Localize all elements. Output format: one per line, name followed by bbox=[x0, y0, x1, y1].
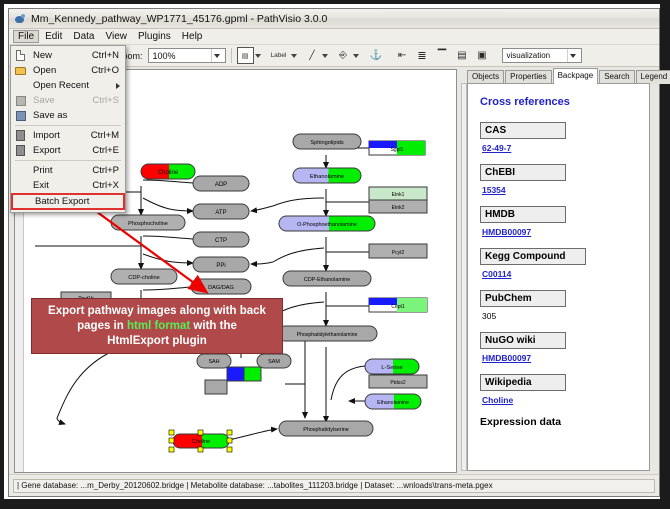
zoom-value: 100% bbox=[151, 51, 211, 61]
pathvisio-icon bbox=[14, 13, 26, 25]
file-menu-exit-label: Exit bbox=[28, 180, 92, 191]
file-menu-exit[interactable]: Exit Ctrl+X bbox=[11, 178, 125, 193]
xref-value-chebi[interactable]: 15354 bbox=[482, 185, 639, 195]
svg-text:Choline: Choline bbox=[158, 170, 179, 176]
file-menu-open-recent[interactable]: Open Recent bbox=[11, 78, 125, 93]
anchor-icon[interactable]: ⚓ bbox=[368, 47, 385, 64]
label-icon[interactable]: Label bbox=[268, 47, 290, 64]
application-window: Mm_Kennedy_pathway_WP1771_45176.gpml - P… bbox=[8, 8, 660, 497]
blank-icon bbox=[13, 179, 28, 192]
file-menu-open-label: Open bbox=[28, 65, 91, 76]
menu-edit[interactable]: Edit bbox=[40, 30, 67, 43]
desktop-background: Mm_Kennedy_pathway_WP1771_45176.gpml - P… bbox=[0, 0, 670, 509]
window-shadow-left bbox=[0, 4, 4, 509]
label-tool[interactable]: Label bbox=[268, 47, 297, 64]
xref-group-chebi: ChEBI 15354 bbox=[480, 164, 639, 195]
menu-help[interactable]: Help bbox=[177, 30, 208, 43]
node-cdp-choline: CDP-choline bbox=[111, 269, 177, 284]
svg-text:ATP: ATP bbox=[215, 210, 226, 216]
status-text: | Gene database: ...m_Derby_20120602.bri… bbox=[13, 479, 655, 493]
title-bar: Mm_Kennedy_pathway_WP1771_45176.gpml - P… bbox=[9, 9, 659, 29]
xref-value-hmdb[interactable]: HMDB00097 bbox=[482, 227, 639, 237]
submenu-arrow-icon bbox=[116, 83, 120, 89]
file-menu-save: Save Ctrl+S bbox=[11, 93, 125, 108]
shape-tool[interactable]: ⎆ bbox=[335, 47, 359, 64]
file-menu-separator-1 bbox=[15, 125, 121, 126]
svg-text:PPi: PPi bbox=[216, 263, 225, 269]
file-menu-import[interactable]: Import Ctrl+M bbox=[11, 128, 125, 143]
node-choline-selected: Choline bbox=[169, 430, 232, 452]
node-unnamed-grey bbox=[205, 380, 227, 394]
chevron-down-icon[interactable] bbox=[255, 54, 261, 58]
node-sah: SAH bbox=[197, 354, 231, 368]
xref-value-nugo[interactable]: HMDB00097 bbox=[482, 353, 639, 363]
file-menu-exit-accel: Ctrl+X bbox=[92, 180, 125, 191]
node-ptdss2: Ptdss2 bbox=[369, 375, 427, 388]
svg-text:CTP: CTP bbox=[215, 238, 227, 244]
svg-text:Etnk1: Etnk1 bbox=[392, 192, 405, 198]
file-menu-import-accel: Ctrl+M bbox=[91, 130, 125, 141]
node-sam: SAM bbox=[257, 354, 291, 368]
xref-label-cas: CAS bbox=[480, 122, 566, 139]
node-choline-top: Choline bbox=[141, 164, 195, 179]
backpage-content: Cross references CAS 62-49-7 ChEBI 15354… bbox=[467, 83, 650, 471]
tab-properties[interactable]: Properties bbox=[505, 70, 551, 84]
cross-references-title: Cross references bbox=[480, 96, 639, 108]
line-tool[interactable]: ╱ bbox=[304, 47, 328, 64]
xref-group-kegg: Kegg Compound C00114 bbox=[480, 248, 639, 279]
blank-icon bbox=[15, 195, 30, 208]
callout-line-3: HtmlExport plugin bbox=[107, 334, 207, 349]
xref-group-wikipedia: Wikipedia Choline bbox=[480, 374, 639, 405]
line-icon[interactable]: ╱ bbox=[304, 47, 321, 64]
node-ethanolamine-top: Ethanolamine bbox=[293, 168, 361, 183]
xref-value-kegg[interactable]: C00114 bbox=[482, 269, 639, 279]
distribute-icon[interactable]: ▔ bbox=[434, 47, 451, 64]
callout-line-2: pages in html format with the bbox=[77, 319, 237, 334]
node-cept1: Cept1 bbox=[369, 298, 427, 312]
export-icon bbox=[13, 144, 28, 157]
svg-text:Pcyt2: Pcyt2 bbox=[392, 250, 405, 256]
xref-label-kegg: Kegg Compound bbox=[480, 248, 586, 265]
window-shadow-top bbox=[0, 0, 670, 4]
visualization-value: visualization bbox=[505, 51, 567, 60]
svg-text:Phosphocholine: Phosphocholine bbox=[128, 221, 168, 227]
svg-text:Cept1: Cept1 bbox=[391, 304, 405, 310]
annotation-callout: Export pathway images along with back pa… bbox=[31, 298, 283, 354]
svg-text:CDP-Ethanolamine: CDP-Ethanolamine bbox=[304, 277, 350, 283]
svg-text:L-Serine: L-Serine bbox=[381, 365, 402, 371]
datanode-tool[interactable]: ▤ bbox=[237, 47, 261, 64]
file-menu-batch-export[interactable]: Batch Export bbox=[11, 193, 125, 210]
chevron-down-icon[interactable] bbox=[353, 54, 359, 58]
xref-value-wikipedia[interactable]: Choline bbox=[482, 395, 639, 405]
zoom-combobox[interactable]: 100% bbox=[148, 48, 226, 63]
callout-highlight: html format bbox=[127, 320, 190, 332]
svg-text:Ptdss2: Ptdss2 bbox=[390, 380, 406, 386]
tab-backpage[interactable]: Backpage bbox=[553, 68, 599, 84]
file-menu-new[interactable]: New Ctrl+N bbox=[11, 48, 125, 63]
svg-text:Ethanolamine: Ethanolamine bbox=[310, 174, 344, 180]
save-disk-icon bbox=[13, 94, 28, 107]
node-atp: ATP bbox=[193, 204, 249, 219]
file-menu-open[interactable]: Open Ctrl+O bbox=[11, 63, 125, 78]
side-panel-tabs[interactable]: Objects Properties Backpage Search Legen… bbox=[467, 69, 670, 84]
print-icon bbox=[13, 164, 28, 177]
file-menu-import-label: Import bbox=[28, 130, 91, 141]
blank-icon bbox=[13, 79, 28, 92]
node-etnk2: Etnk2 bbox=[369, 200, 427, 213]
tab-legend[interactable]: Legend bbox=[636, 70, 670, 84]
file-menu-print-label: Print bbox=[28, 165, 92, 176]
svg-text:Sphingolipids: Sphingolipids bbox=[310, 140, 343, 146]
callout-line-2-before: pages in bbox=[77, 320, 127, 332]
svg-text:SAH: SAH bbox=[208, 359, 219, 365]
xref-label-hmdb: HMDB bbox=[480, 206, 566, 223]
svg-text:CDP-choline: CDP-choline bbox=[128, 275, 159, 281]
xref-label-pubchem: PubChem bbox=[480, 290, 566, 307]
import-icon bbox=[13, 129, 28, 142]
node-o-phosphoethanolamine: O-Phosphoethanolamine bbox=[279, 216, 375, 231]
menu-file[interactable]: File bbox=[13, 30, 39, 43]
new-document-icon bbox=[13, 49, 28, 62]
xref-label-chebi: ChEBI bbox=[480, 164, 566, 181]
svg-text:Phosphatidylethanolamine: Phosphatidylethanolamine bbox=[297, 332, 358, 338]
node-cdp-ethanolamine: CDP-Ethanolamine bbox=[283, 271, 371, 286]
file-menu-open-recent-label: Open Recent bbox=[28, 80, 116, 91]
menu-bar[interactable]: File Edit Data View Plugins Help bbox=[9, 29, 659, 45]
order-icon[interactable]: ▣ bbox=[474, 47, 491, 64]
callout-line-2-after: with the bbox=[190, 320, 237, 332]
chevron-down-icon[interactable] bbox=[291, 54, 297, 58]
file-menu-save-as-label: Save as bbox=[28, 110, 119, 121]
file-menu-dropdown[interactable]: New Ctrl+N Open Ctrl+O Open Recent Save … bbox=[10, 45, 126, 213]
align-left-icon[interactable]: ⇤ bbox=[394, 47, 411, 64]
tab-objects[interactable]: Objects bbox=[467, 70, 504, 84]
node-phosphatidylserine: Phosphatidylserine bbox=[279, 421, 373, 436]
chevron-down-icon[interactable] bbox=[322, 54, 328, 58]
callout-line-1: Export pathway images along with back bbox=[48, 304, 266, 319]
node-ethanolamine-bottom: Ethanolamine bbox=[365, 394, 421, 409]
menu-data[interactable]: Data bbox=[68, 30, 99, 43]
svg-text:Phosphatidylserine: Phosphatidylserine bbox=[303, 427, 349, 433]
svg-text:Choline: Choline bbox=[192, 439, 210, 445]
chevron-down-icon[interactable] bbox=[567, 49, 579, 62]
shape-icon[interactable]: ⎆ bbox=[335, 47, 352, 64]
file-menu-print[interactable]: Print Ctrl+P bbox=[11, 163, 125, 178]
tab-search[interactable]: Search bbox=[599, 70, 634, 84]
node-sphingolipids: Sphingolipids bbox=[293, 134, 361, 149]
xref-value-cas[interactable]: 62-49-7 bbox=[482, 143, 639, 153]
node-phosphocholine: Phosphocholine bbox=[111, 215, 185, 230]
node-etnk1: Etnk1 bbox=[369, 187, 427, 200]
file-menu-save-accel: Ctrl+S bbox=[92, 95, 125, 106]
node-phosphatidylethanolamine: Phosphatidylethanolamine bbox=[277, 326, 377, 341]
xref-group-hmdb: HMDB HMDB00097 bbox=[480, 206, 639, 237]
menu-plugins[interactable]: Plugins bbox=[133, 30, 176, 43]
status-bar: | Gene database: ...m_Derby_20120602.bri… bbox=[9, 474, 659, 496]
svg-text:Sgpl1: Sgpl1 bbox=[391, 147, 404, 153]
svg-text:DAG/DAG: DAG/DAG bbox=[208, 285, 234, 291]
file-menu-separator-2 bbox=[15, 160, 121, 161]
xref-value-pubchem: 305 bbox=[482, 311, 639, 321]
expression-data-title: Expression data bbox=[480, 416, 639, 428]
node-sgpl1: Sgpl1 bbox=[369, 141, 425, 155]
node-pcyt2: Pcyt2 bbox=[369, 244, 427, 258]
svg-text:ADP: ADP bbox=[215, 182, 227, 188]
toolbar-separator bbox=[231, 48, 232, 63]
xref-group-cas: CAS 62-49-7 bbox=[480, 122, 639, 153]
xref-group-nugo: NuGO wiki HMDB00097 bbox=[480, 332, 639, 363]
open-folder-icon bbox=[13, 64, 28, 77]
file-menu-save-as[interactable]: Save as bbox=[11, 108, 125, 123]
node-ctp: CTP bbox=[193, 232, 249, 247]
group-icon[interactable]: ▤ bbox=[454, 47, 471, 64]
node-ppi: PPi bbox=[193, 257, 249, 272]
datanode-icon[interactable]: ▤ bbox=[237, 47, 254, 64]
window-title: Mm_Kennedy_pathway_WP1771_45176.gpml - P… bbox=[31, 13, 327, 25]
xref-label-wikipedia: Wikipedia bbox=[480, 374, 566, 391]
window-shadow-bottom bbox=[4, 499, 670, 509]
node-pemt bbox=[227, 367, 261, 381]
xref-group-pubchem: PubChem 305 bbox=[480, 290, 639, 321]
node-adp: ADP bbox=[193, 176, 249, 191]
node-dag-dag: DAG/DAG bbox=[191, 279, 251, 294]
visualization-combobox[interactable]: visualization bbox=[502, 48, 582, 63]
svg-text:Ethanolamine: Ethanolamine bbox=[377, 400, 409, 406]
xref-label-nugo: NuGO wiki bbox=[480, 332, 566, 349]
file-menu-export-label: Export bbox=[28, 145, 92, 156]
chevron-down-icon[interactable] bbox=[211, 49, 223, 62]
file-menu-export[interactable]: Export Ctrl+E bbox=[11, 143, 125, 158]
file-menu-export-accel: Ctrl+E bbox=[92, 145, 125, 156]
svg-text:Etnk2: Etnk2 bbox=[392, 205, 405, 211]
file-menu-new-label: New bbox=[28, 50, 92, 61]
menu-view[interactable]: View bbox=[100, 30, 132, 43]
svg-text:O-Phosphoethanolamine: O-Phosphoethanolamine bbox=[297, 222, 357, 228]
file-menu-batch-export-label: Batch Export bbox=[30, 196, 123, 207]
file-menu-print-accel: Ctrl+P bbox=[92, 165, 125, 176]
file-menu-save-label: Save bbox=[28, 95, 92, 106]
node-l-serine: L-Serine bbox=[365, 359, 419, 374]
align-center-icon[interactable]: ≣ bbox=[414, 47, 431, 64]
file-menu-new-accel: Ctrl+N bbox=[92, 50, 125, 61]
save-as-disk-icon bbox=[13, 109, 28, 122]
side-panel: Objects Properties Backpage Search Legen… bbox=[461, 69, 656, 473]
svg-text:SAM: SAM bbox=[268, 359, 280, 365]
file-menu-open-accel: Ctrl+O bbox=[91, 65, 125, 76]
